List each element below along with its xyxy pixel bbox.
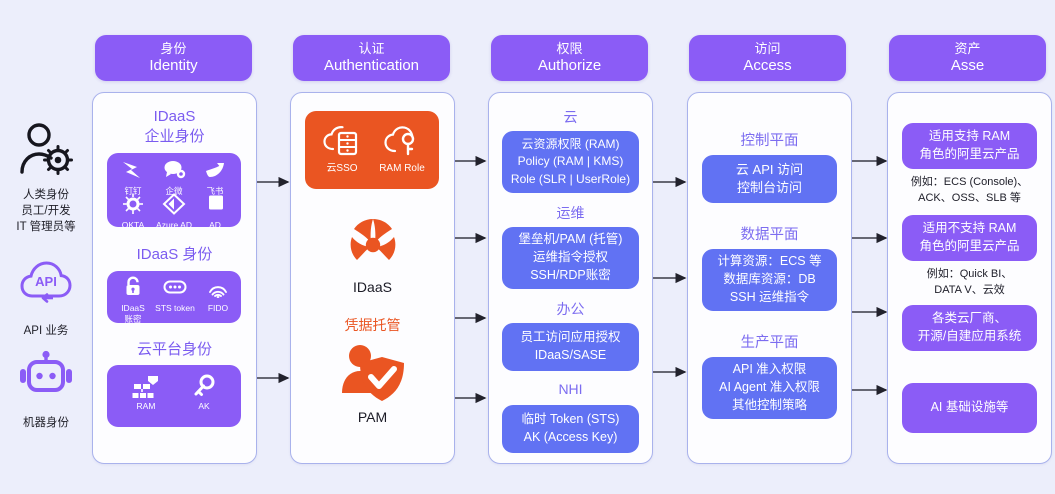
authorize-section-title-nhi: NHI [489, 381, 652, 397]
card-line: 云 API 访问 [736, 161, 803, 179]
asset-note-ram-supported: 例如：ECS (Console)、 ACK、OSS、SLB 等 [888, 175, 1051, 206]
key-icon [181, 374, 227, 400]
actor-api: API API 业务 [0, 258, 92, 340]
azure-ad-icon [154, 193, 194, 219]
card-line: 控制台访问 [737, 179, 802, 197]
header-zh: 资产 [954, 41, 980, 57]
card-line: 数据库资源：DB [723, 271, 815, 289]
panel-identity: IDaaS 企业身份 钉钉 [92, 92, 257, 464]
access-card-control[interactable]: 云 API 访问 控制台访问 [702, 155, 837, 203]
cloud-sso-icon [315, 125, 369, 159]
tile-fido[interactable]: FIDO [198, 276, 238, 314]
tile-okta[interactable]: OKTA [113, 193, 153, 231]
panel-authentication: 云SSO RAM Role [290, 92, 455, 464]
authorize-card-office[interactable]: 员工访问应用授权 IDaaS/SASE [502, 323, 639, 371]
person-gear-icon [0, 122, 92, 184]
asset-card-multicloud[interactable]: 各类云厂商、 开源/自建应用系统 [902, 305, 1037, 351]
card-line: AI Agent 准入权限 [719, 379, 820, 397]
header-zh: 认证 [358, 41, 384, 57]
card-line: 计算资源：ECS 等 [717, 253, 821, 271]
tile-sts-token[interactable]: STS token [153, 276, 197, 314]
card-line: 云资源权限 (RAM) [522, 136, 620, 153]
card-line: Role (SLR | UserRole) [511, 171, 630, 188]
auth-cloud-card[interactable]: 云SSO RAM Role [305, 111, 439, 189]
authorize-card-ops[interactable]: 堡垒机/PAM (托管) 运维指令授权 SSH/RDP账密 [502, 227, 639, 289]
tile-ram[interactable]: RAM [121, 374, 171, 412]
pam-logo-icon [291, 341, 454, 407]
card-line: 其他控制策略 [732, 397, 807, 415]
identity-group-title-cloud: 云平台身份 [93, 338, 256, 359]
auth-logo-pam: 凭据托管 PAM [291, 315, 454, 425]
logo-name: PAM [291, 409, 454, 425]
asset-note-ram-unsupported: 例如：Quick BI、 DATA V、云效 [888, 267, 1051, 298]
tile-feishu[interactable]: 飞书 [195, 159, 235, 197]
authorize-section-title-ops: 运维 [489, 203, 652, 223]
card-line: 临时 Token (STS) [522, 411, 620, 429]
header-zh: 权限 [556, 41, 582, 57]
card-line: SSH/RDP账密 [530, 267, 611, 285]
header-zh: 访问 [754, 41, 780, 57]
tile-label: Azure AD [154, 220, 194, 231]
column-header-authentication[interactable]: 认证 Authentication [293, 35, 450, 81]
tile-cloud-sso[interactable]: 云SSO [315, 125, 369, 176]
card-line: AK (Access Key) [524, 429, 618, 447]
ad-icon [195, 193, 235, 219]
access-card-data[interactable]: 计算资源：ECS 等 数据库资源：DB SSH 运维指令 [702, 249, 837, 311]
header-en: Authorize [538, 57, 601, 76]
wecom-icon [154, 159, 194, 185]
tile-label: RAM Role [371, 163, 433, 176]
tile-ak[interactable]: AK [181, 374, 227, 412]
card-line: 适用不支持 RAM [923, 220, 1017, 238]
column-header-access[interactable]: 访问 Access [689, 35, 846, 81]
identity-group-title-enterprise: IDaaS 企业身份 [93, 107, 256, 148]
authorize-card-cloud[interactable]: 云资源权限 (RAM) Policy (RAM | KMS) Role (SLR… [502, 131, 639, 193]
feishu-icon [195, 159, 235, 185]
access-section-title-control: 控制平面 [688, 129, 851, 150]
card-line: IDaaS/SASE [535, 347, 607, 365]
actor-human: 人类身份 员工/开发 IT 管理员等 [0, 122, 92, 236]
ram-role-icon [371, 125, 433, 159]
svg-text:API: API [35, 274, 57, 289]
identity-cloud-tiles[interactable]: RAM AK [107, 365, 241, 427]
card-line: AI 基础设施等 [931, 399, 1009, 417]
pam-tagline: 凭据托管 [291, 315, 454, 335]
tile-label: OKTA [113, 220, 153, 231]
column-header-identity[interactable]: 身份 Identity [95, 35, 252, 81]
tile-dingtalk[interactable]: 钉钉 [113, 159, 153, 197]
tile-label: 云SSO [315, 163, 369, 176]
robot-icon [0, 350, 92, 412]
tile-label: FIDO [198, 303, 238, 314]
card-line: 适用支持 RAM [929, 128, 1010, 146]
header-zh: 身份 [160, 41, 186, 57]
panel-access: 控制平面 云 API 访问 控制台访问 数据平面 计算资源：ECS 等 数据库资… [687, 92, 852, 464]
dingtalk-icon [113, 159, 153, 185]
tile-label: AK [181, 401, 227, 412]
card-line: 开源/自建应用系统 [918, 328, 1021, 346]
column-header-asset[interactable]: 资产 Asse [889, 35, 1046, 81]
api-cloud-icon: API [0, 258, 92, 320]
panel-authorize: 云 云资源权限 (RAM) Policy (RAM | KMS) Role (S… [488, 92, 653, 464]
identity-enterprise-tiles[interactable]: 钉钉 企微 [107, 153, 241, 227]
tile-label: AD [195, 220, 235, 231]
tile-label: IDaaS 账密 [112, 303, 154, 324]
tile-azure-ad[interactable]: Azure AD [154, 193, 194, 231]
column-header-authorize[interactable]: 权限 Authorize [491, 35, 648, 81]
tile-ram-role[interactable]: RAM Role [371, 125, 433, 176]
tile-ad[interactable]: AD [195, 193, 235, 231]
card-line: API 准入权限 [733, 361, 807, 379]
token-icon [153, 276, 197, 302]
access-card-production[interactable]: API 准入权限 AI Agent 准入权限 其他控制策略 [702, 357, 837, 419]
panel-asset: 适用支持 RAM 角色的阿里云产品 例如：ECS (Console)、 ACK、… [887, 92, 1052, 464]
actor-label: 机器身份 [0, 416, 92, 432]
card-line: 员工访问应用授权 [520, 329, 620, 347]
okta-icon [113, 193, 153, 219]
card-line: 角色的阿里云产品 [919, 146, 1019, 164]
authorize-section-title-office: 办公 [489, 299, 652, 319]
card-line: 运维指令授权 [533, 249, 608, 267]
lock-icon [112, 276, 154, 302]
access-section-title-production: 生产平面 [688, 331, 851, 352]
fingerprint-icon [198, 276, 238, 302]
auth-logo-idaas: IDaaS [291, 211, 454, 295]
card-line: 堡垒机/PAM (托管) [519, 231, 623, 249]
header-en: Authentication [324, 57, 419, 76]
authorize-section-title-cloud: 云 [489, 107, 652, 127]
tile-wecom[interactable]: 企微 [154, 159, 194, 197]
tile-label: STS token [153, 303, 197, 314]
tile-idaas-password[interactable]: IDaaS 账密 [112, 276, 154, 324]
actor-machine: 机器身份 [0, 350, 92, 432]
header-en: Access [743, 57, 791, 76]
logo-name: IDaaS [291, 279, 454, 295]
idaas-logo-icon [291, 211, 454, 277]
tile-label: RAM [121, 401, 171, 412]
ram-org-icon [121, 374, 171, 400]
asset-card-ram-unsupported[interactable]: 适用不支持 RAM 角色的阿里云产品 [902, 215, 1037, 261]
actor-label: 人类身份 员工/开发 IT 管理员等 [0, 188, 92, 236]
identity-idaas-tiles[interactable]: IDaaS 账密 STS token [107, 271, 241, 323]
card-line: SSH 运维指令 [730, 289, 809, 307]
access-section-title-data: 数据平面 [688, 223, 851, 244]
asset-card-ram-supported[interactable]: 适用支持 RAM 角色的阿里云产品 [902, 123, 1037, 169]
card-line: 各类云厂商、 [932, 310, 1007, 328]
identity-group-title-idaas: IDaaS 身份 [93, 243, 256, 264]
asset-card-ai-infra[interactable]: AI 基础设施等 [902, 383, 1037, 433]
header-en: Identity [149, 57, 197, 76]
card-line: 角色的阿里云产品 [919, 238, 1019, 256]
authorize-card-nhi[interactable]: 临时 Token (STS) AK (Access Key) [502, 405, 639, 453]
header-en: Asse [951, 57, 984, 76]
card-line: Policy (RAM | KMS) [518, 153, 624, 170]
actor-label: API 业务 [0, 324, 92, 340]
